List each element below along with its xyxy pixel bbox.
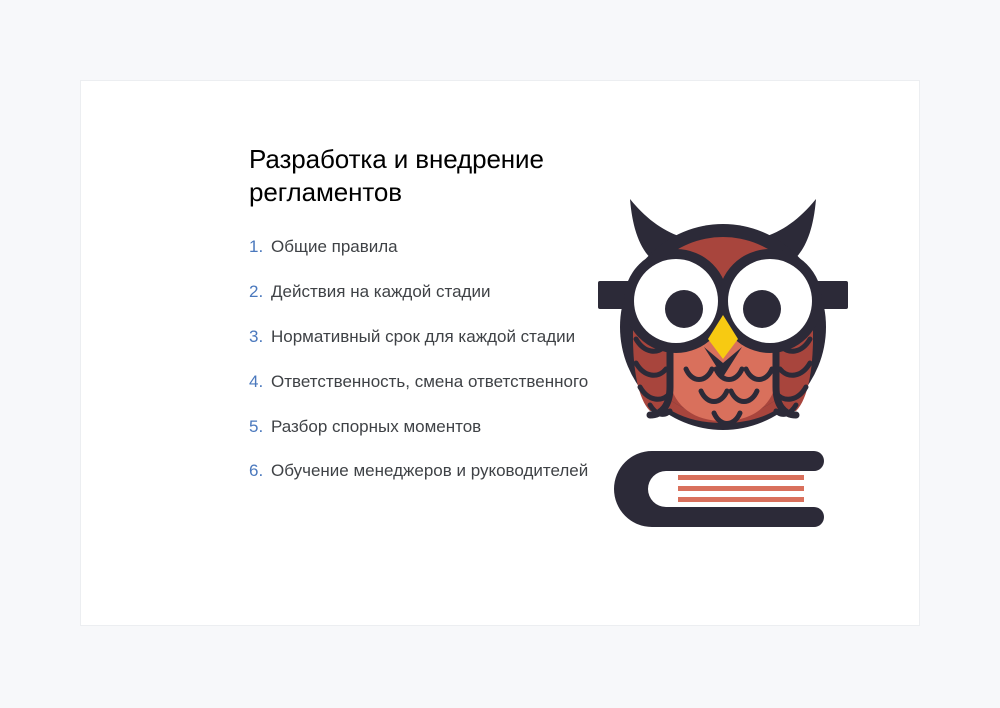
- list-item: 6. Обучение менеджеров и руководителей: [249, 457, 599, 486]
- list-item-label: Нормативный срок для каждой стадии: [271, 323, 599, 352]
- list-item-number: 4.: [249, 368, 271, 397]
- owl-on-book-icon: [592, 187, 854, 527]
- list-item: 3. Нормативный срок для каждой стадии: [249, 323, 599, 352]
- owl-illustration: [592, 187, 854, 527]
- list-item-label: Ответственность, смена ответственного: [271, 368, 599, 397]
- list-item-number: 1.: [249, 233, 271, 262]
- list-item-label: Разбор спорных моментов: [271, 413, 599, 442]
- list-item-number: 3.: [249, 323, 271, 352]
- list-item: 4. Ответственность, смена ответственного: [249, 368, 599, 397]
- list-item-number: 6.: [249, 457, 271, 486]
- list-item: 2. Действия на каждой стадии: [249, 278, 599, 307]
- list-item-number: 5.: [249, 413, 271, 442]
- slide-card: Разработка и внедрение регламентов 1. Об…: [80, 80, 920, 626]
- list-item-label: Общие правила: [271, 233, 599, 262]
- list-item: 1. Общие правила: [249, 233, 599, 262]
- agenda-list: 1. Общие правила 2. Действия на каждой с…: [249, 233, 599, 486]
- list-item-label: Обучение менеджеров и руководителей: [271, 457, 599, 486]
- list-item-label: Действия на каждой стадии: [271, 278, 599, 307]
- list-item-number: 2.: [249, 278, 271, 307]
- page-title: Разработка и внедрение регламентов: [249, 143, 599, 209]
- list-item: 5. Разбор спорных моментов: [249, 413, 599, 442]
- slide-content: Разработка и внедрение регламентов 1. Об…: [249, 143, 599, 502]
